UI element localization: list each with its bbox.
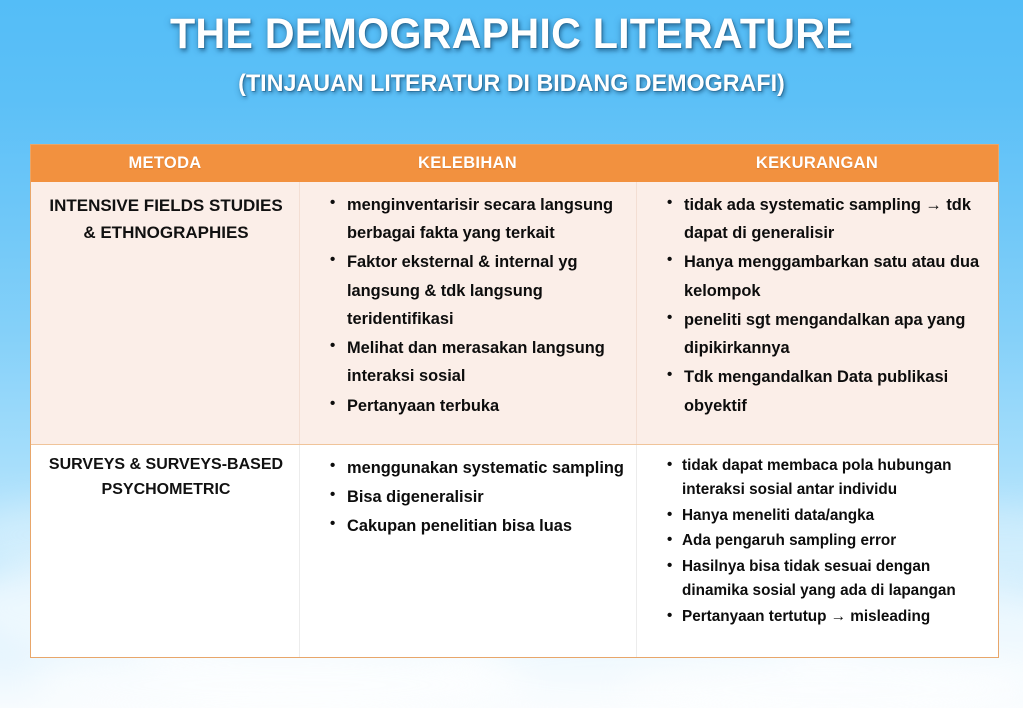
list-item: Pertanyaan terbuka	[326, 392, 626, 420]
cloud-decoration	[620, 655, 1023, 708]
page-subtitle: (TINJAUAN LITERATUR DI BIDANG DEMOGRAFI)	[15, 71, 1007, 97]
list-item: menginventarisir secara langsung berbaga…	[326, 191, 626, 247]
list-item: Hasilnya bisa tidak sesuai dengan dinami…	[663, 555, 988, 604]
cell-method: INTENSIVE FIELDS STUDIES & ETHNOGRAPHIES	[31, 182, 299, 444]
list-item: Melihat dan merasakan langsung interaksi…	[326, 334, 626, 390]
column-header-kelebihan: KELEBIHAN	[299, 145, 636, 182]
cell-kelebihan: menginventarisir secara langsung berbaga…	[299, 182, 636, 444]
list-item: Ada pengaruh sampling error	[663, 529, 988, 553]
list-item: Hanya meneliti data/angka	[663, 504, 988, 528]
cell-kekurangan: tidak ada systematic sampling → tdk dapa…	[636, 182, 998, 444]
column-header-metoda: METODA	[31, 145, 299, 182]
slide-canvas: THE DEMOGRAPHIC LITERATURE (TINJAUAN LIT…	[0, 0, 1023, 708]
list-item: tidak ada systematic sampling → tdk dapa…	[663, 191, 988, 247]
list-item: Faktor eksternal & internal yg langsung …	[326, 248, 626, 333]
kekurangan-list: tidak ada systematic sampling → tdk dapa…	[649, 191, 988, 420]
kekurangan-list: tidak dapat membaca pola hubungan intera…	[649, 454, 988, 629]
list-item: menggunakan systematic sampling	[326, 454, 626, 482]
table-row: SURVEYS & SURVEYS-BASED PSYCHOMETRIC men…	[31, 444, 998, 657]
list-item: Bisa digeneralisir	[326, 483, 626, 511]
column-header-kekurangan: KEKURANGAN	[636, 145, 998, 182]
cell-kekurangan: tidak dapat membaca pola hubungan intera…	[636, 445, 998, 657]
kelebihan-list: menginventarisir secara langsung berbaga…	[312, 191, 626, 420]
table-header-row: METODA KELEBIHAN KEKURANGAN	[31, 145, 998, 182]
cell-kelebihan: menggunakan systematic sampling Bisa dig…	[299, 445, 636, 657]
list-item: Pertanyaan tertutup → misleading	[663, 605, 988, 629]
list-item: peneliti sgt mengandalkan apa yang dipik…	[663, 306, 988, 362]
list-item: Hanya menggambarkan satu atau dua kelomp…	[663, 248, 988, 304]
list-item: Cakupan penelitian bisa luas	[326, 512, 626, 540]
kelebihan-list: menggunakan systematic sampling Bisa dig…	[312, 454, 626, 541]
cell-method: SURVEYS & SURVEYS-BASED PSYCHOMETRIC	[31, 445, 299, 657]
list-item: tidak dapat membaca pola hubungan intera…	[663, 454, 988, 503]
list-item: Tdk mengandalkan Data publikasi obyektif	[663, 363, 988, 419]
table-row: INTENSIVE FIELDS STUDIES & ETHNOGRAPHIES…	[31, 182, 998, 444]
page-title: THE DEMOGRAPHIC LITERATURE	[20, 12, 1002, 58]
title-block: THE DEMOGRAPHIC LITERATURE (TINJAUAN LIT…	[0, 12, 1023, 97]
comparison-table: METODA KELEBIHAN KEKURANGAN INTENSIVE FI…	[30, 144, 999, 658]
